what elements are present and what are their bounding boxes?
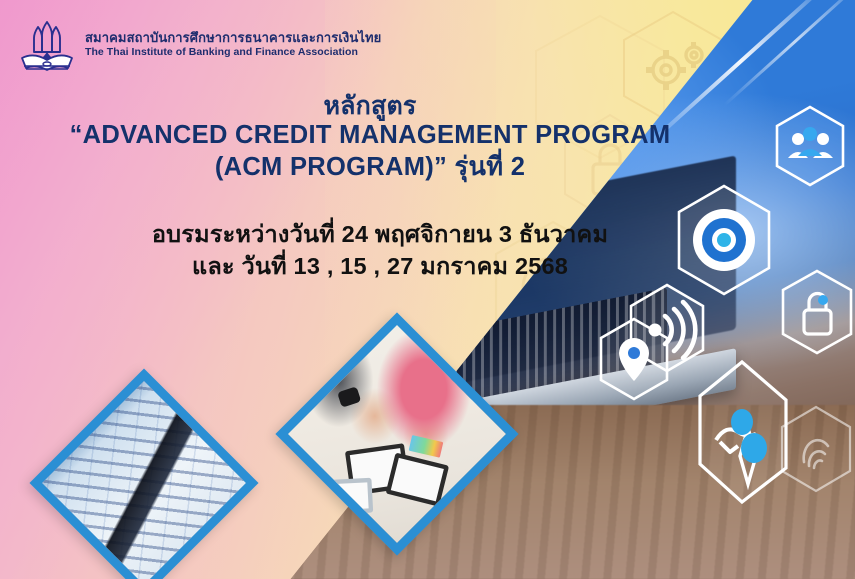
lotus-book-emblem-icon bbox=[18, 16, 76, 74]
poster-canvas: สมาคมสถาบันการศึกษาการธนาคารและการเงินไท… bbox=[0, 0, 855, 579]
course-label: หลักสูตร bbox=[0, 92, 740, 120]
brand-logo-block: สมาคมสถาบันการศึกษาการธนาคารและการเงินไท… bbox=[18, 16, 381, 74]
pen-on-financial-report-photo bbox=[29, 368, 258, 579]
org-name-thai: สมาคมสถาบันการศึกษาการธนาคารและการเงินไท… bbox=[85, 31, 381, 46]
headline-block: หลักสูตร “ADVANCED CREDIT MANAGEMENT PRO… bbox=[0, 92, 740, 184]
training-dates-block: อบรมระหว่างวันที่ 24 พฤศจิกายน 3 ธันวาคม… bbox=[0, 218, 760, 283]
program-title-line-1: “ADVANCED CREDIT MANAGEMENT PROGRAM bbox=[0, 120, 740, 152]
org-name-english: The Thai Institute of Banking and Financ… bbox=[85, 47, 381, 59]
training-dates-line-2: และ วันที่ 13 , 15 , 27 มกราคม 2568 bbox=[0, 250, 760, 282]
program-title-line-2: (ACM PROGRAM)” รุ่นที่ 2 bbox=[0, 152, 740, 184]
training-dates-line-1: อบรมระหว่างวันที่ 24 พฤศจิกายน 3 ธันวาคม bbox=[0, 218, 760, 250]
